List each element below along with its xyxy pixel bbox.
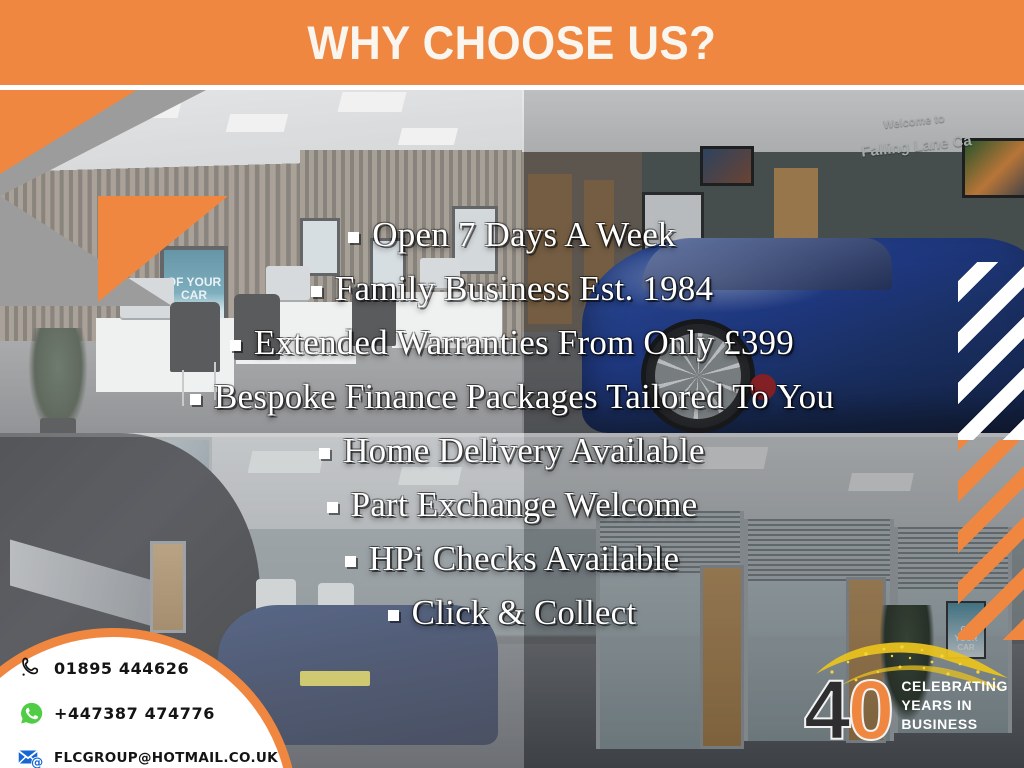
list-item: Open 7 Days A Week bbox=[0, 208, 1024, 262]
list-item-label: Home Delivery Available bbox=[343, 431, 705, 470]
square-bullet-icon bbox=[327, 502, 338, 513]
square-bullet-icon bbox=[348, 232, 359, 243]
number-plate bbox=[300, 671, 370, 686]
list-item: Family Business Est. 1984 bbox=[0, 262, 1024, 316]
list-item: Home Delivery Available bbox=[0, 424, 1024, 478]
list-item: Extended Warranties From Only £399 bbox=[0, 316, 1024, 370]
list-item: HPi Checks Available bbox=[0, 532, 1024, 586]
email-address: FLCGROUP@HOTMAIL.CO.UK bbox=[54, 750, 278, 766]
list-item-label: Open 7 Days A Week bbox=[372, 215, 675, 254]
caption-line-3: BUSINESS bbox=[901, 715, 1008, 734]
list-item-label: Family Business Est. 1984 bbox=[335, 269, 713, 308]
phone-number: 01895 444626 bbox=[54, 659, 189, 678]
list-item: Bespoke Finance Packages Tailored To You bbox=[0, 370, 1024, 424]
square-bullet-icon bbox=[345, 556, 356, 567]
poster-canvas: OF YOUR CAR bbox=[0, 0, 1024, 768]
ceiling-light bbox=[398, 128, 458, 145]
wall-tv-small bbox=[700, 146, 754, 186]
contact-row-whatsapp[interactable]: +447387 474776 bbox=[18, 700, 278, 726]
caption-line-2: YEARS IN bbox=[901, 696, 1008, 715]
list-item-label: Bespoke Finance Packages Tailored To You bbox=[214, 377, 834, 416]
square-bullet-icon bbox=[230, 340, 241, 351]
list-item-label: Click & Collect bbox=[412, 593, 637, 632]
whatsapp-icon bbox=[18, 700, 44, 726]
contact-row-email[interactable]: @ FLCGROUP@HOTMAIL.CO.UK bbox=[18, 745, 278, 768]
svg-text:@: @ bbox=[31, 755, 43, 768]
phone-icon bbox=[18, 655, 44, 681]
welcome-line1: Welcome to bbox=[883, 113, 945, 131]
square-bullet-icon bbox=[190, 394, 201, 405]
contact-details: 01895 444626 +447387 474776 @ bbox=[18, 655, 278, 768]
anniversary-digit-0: 0 bbox=[848, 674, 892, 748]
caption-line-1: CELEBRATING bbox=[901, 677, 1008, 696]
list-item-label: Part Exchange Welcome bbox=[351, 485, 698, 524]
anniversary-caption: CELEBRATING YEARS IN BUSINESS bbox=[901, 677, 1008, 748]
list-item: Part Exchange Welcome bbox=[0, 478, 1024, 532]
square-bullet-icon bbox=[319, 448, 330, 459]
header-underline bbox=[0, 85, 1024, 90]
corner-orange-triangle-upper bbox=[0, 88, 140, 174]
header-banner: WHY CHOOSE US? bbox=[0, 0, 1024, 85]
ceiling-light bbox=[338, 92, 407, 112]
ceiling-light bbox=[226, 114, 288, 132]
page-title: WHY CHOOSE US? bbox=[308, 15, 717, 70]
contact-row-phone[interactable]: 01895 444626 bbox=[18, 655, 278, 681]
list-item-label: HPi Checks Available bbox=[369, 539, 680, 578]
anniversary-logo: 40 CELEBRATING YEARS IN BUSINESS bbox=[804, 674, 1008, 748]
whatsapp-number: +447387 474776 bbox=[54, 704, 215, 723]
anniversary-number: 40 bbox=[804, 674, 891, 748]
square-bullet-icon bbox=[388, 610, 399, 621]
list-item-label: Extended Warranties From Only £399 bbox=[254, 323, 794, 362]
benefits-list: Open 7 Days A Week Family Business Est. … bbox=[0, 208, 1024, 640]
anniversary-digit-4: 4 bbox=[804, 674, 848, 748]
square-bullet-icon bbox=[311, 286, 322, 297]
email-at-icon: @ bbox=[18, 745, 44, 768]
